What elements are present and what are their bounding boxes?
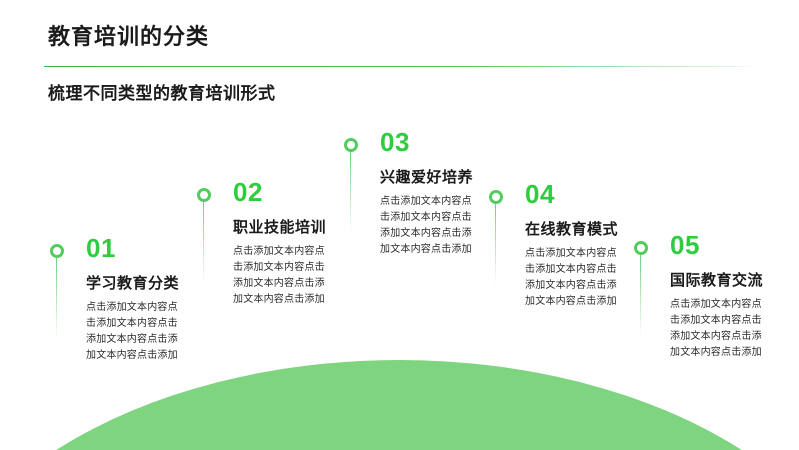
item-body-line: 点击添加文本内容点 (670, 297, 786, 313)
item-heading: 兴趣爱好培养 (380, 166, 473, 187)
item-body-line: 加文本内容点击添加 (380, 242, 496, 258)
item-body-line: 点击添加文本内容点 (525, 246, 641, 262)
item-body-line: 击添加文本内容点击 (380, 210, 496, 226)
item-body-line: 加文本内容点击添加 (670, 345, 786, 361)
circle-ring-icon (344, 138, 358, 152)
item-number: 01 (86, 235, 116, 261)
circle-ring-icon (50, 244, 64, 258)
item-heading: 在线教育模式 (525, 218, 618, 239)
circle-ring-icon (197, 188, 211, 202)
item-number: 05 (670, 232, 700, 258)
item-body: 点击添加文本内容点 击添加文本内容点击 添加文本内容点击添 加文本内容点击添加 (86, 300, 202, 364)
item-number: 03 (380, 129, 410, 155)
page-title: 教育培训的分类 (48, 19, 209, 51)
circle-ring-icon (634, 241, 648, 255)
item-body-line: 添加文本内容点击添 (233, 276, 349, 292)
marker-icon (50, 244, 64, 258)
slide-canvas: 教育培训的分类 梳理不同类型的教育培训形式 01 学习教育分类 点击添加文本内容… (0, 0, 799, 450)
item-body-line: 击添加文本内容点击 (233, 260, 349, 276)
item-body-line: 击添加文本内容点击 (670, 313, 786, 329)
item-body: 点击添加文本内容点 击添加文本内容点击 添加文本内容点击添 加文本内容点击添加 (525, 246, 641, 310)
item-body: 点击添加文本内容点 击添加文本内容点击 添加文本内容点击添 加文本内容点击添加 (233, 244, 349, 308)
marker-icon (634, 241, 648, 255)
item-body-line: 击添加文本内容点击 (86, 316, 202, 332)
stem-line (56, 258, 57, 340)
item-body-line: 点击添加文本内容点 (86, 300, 202, 316)
stem-line (495, 204, 496, 286)
item-body-line: 点击添加文本内容点 (233, 244, 349, 260)
item-body-line: 添加文本内容点击添 (380, 226, 496, 242)
item-number: 02 (233, 179, 263, 205)
item-number: 04 (525, 181, 555, 207)
item-heading: 职业技能培训 (233, 216, 326, 237)
page-subtitle: 梳理不同类型的教育培训形式 (48, 79, 276, 104)
circle-ring-icon (489, 190, 503, 204)
marker-icon (489, 190, 503, 204)
item-body: 点击添加文本内容点 击添加文本内容点击 添加文本内容点击添 加文本内容点击添加 (670, 297, 786, 361)
item-body-line: 击添加文本内容点击 (525, 262, 641, 278)
item-heading: 学习教育分类 (86, 272, 179, 293)
item-body-line: 加文本内容点击添加 (86, 348, 202, 364)
item-body-line: 加文本内容点击添加 (525, 294, 641, 310)
item-body-line: 添加文本内容点击添 (86, 332, 202, 348)
marker-icon (197, 188, 211, 202)
marker-icon (344, 138, 358, 152)
stem-line (203, 202, 204, 284)
title-divider (44, 66, 756, 67)
item-body-line: 添加文本内容点击添 (525, 278, 641, 294)
item-body-line: 加文本内容点击添加 (233, 292, 349, 308)
item-body-line: 点击添加文本内容点 (380, 194, 496, 210)
item-body: 点击添加文本内容点 击添加文本内容点击 添加文本内容点击添 加文本内容点击添加 (380, 194, 496, 258)
stem-line (350, 152, 351, 234)
item-body-line: 添加文本内容点击添 (670, 329, 786, 345)
stem-line (640, 255, 641, 337)
item-heading: 国际教育交流 (670, 269, 763, 290)
